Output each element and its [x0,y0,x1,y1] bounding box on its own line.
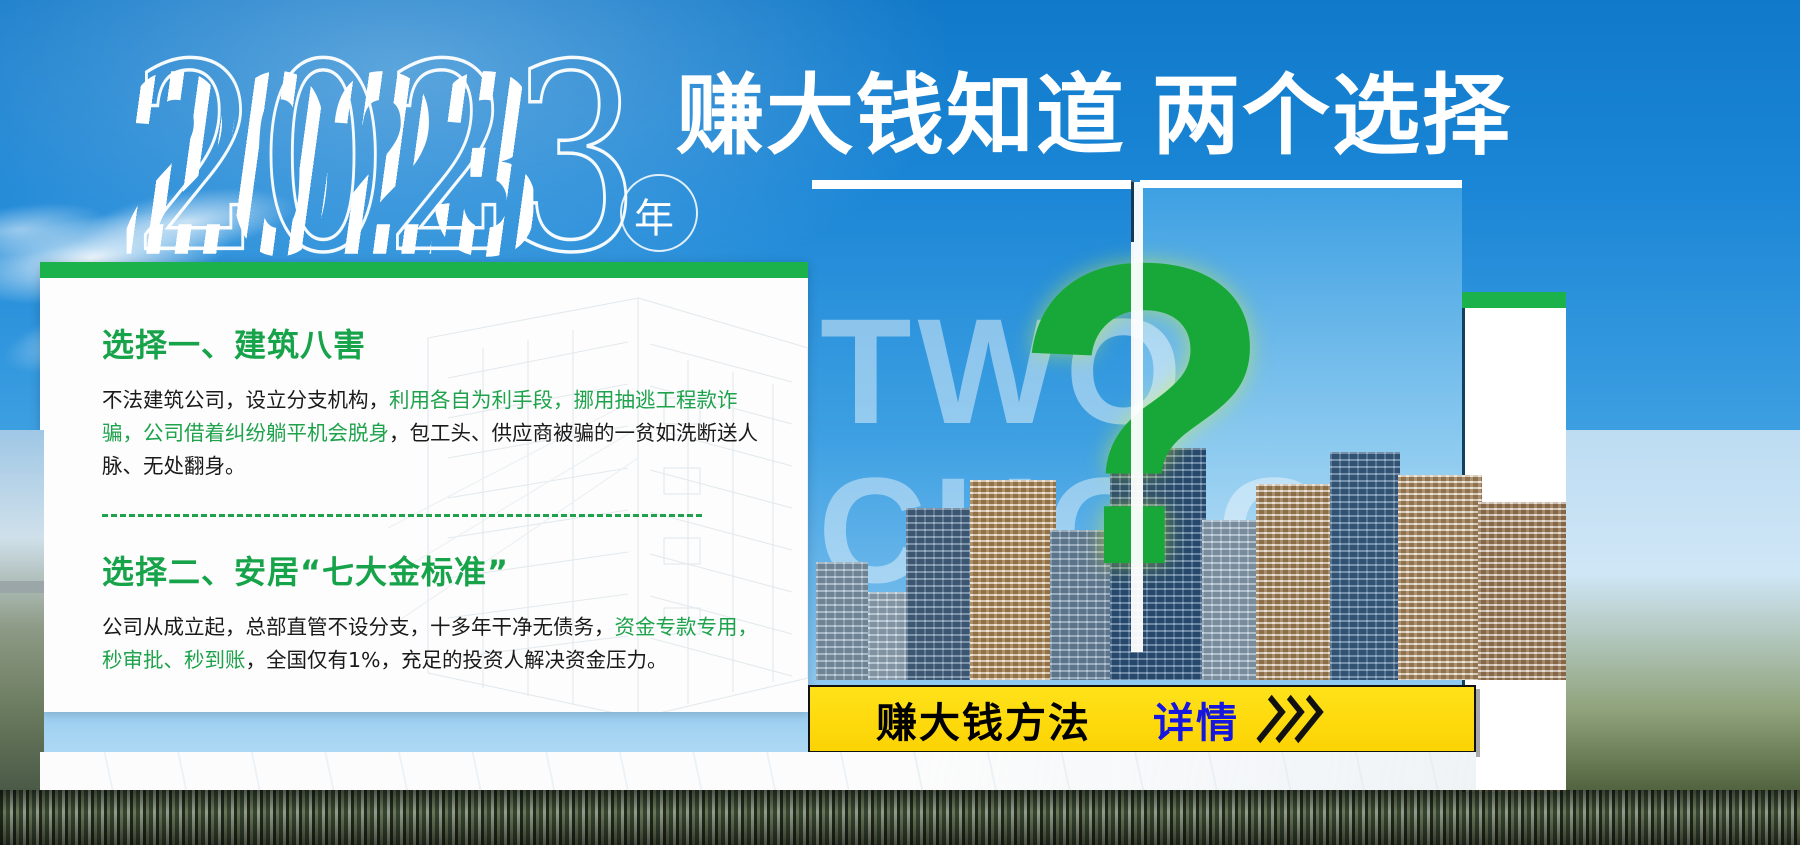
section-2-seg-1: 公司从成立起，总部直管不设分支，十多年干净无债务， [102,615,615,639]
cta-button[interactable]: 赚大钱方法 详情 [808,685,1476,753]
section-1-title: 选择一、建筑八害 [102,320,764,366]
left-photo-slice [0,430,44,790]
section-2-body: 公司从成立起，总部直管不设分支，十多年干净无债务，资金专款专用，秒审批、秒到账，… [102,611,764,677]
building [816,562,868,680]
building [868,592,908,680]
building [906,508,976,680]
question-mark-divider-overlay [1131,182,1143,652]
chevron-right-icon [1259,699,1315,739]
question-mark-divider-cap [1131,182,1134,242]
poster-canvas: 2023 2023 年 赚大钱知道两个选择 TWO CHOICES ? [0,0,1800,845]
building [1330,452,1400,680]
water-reflection-strip [0,790,1800,845]
card-content: 选择一、建筑八害 不法建筑公司，设立分支机构，利用各自为利手段，挪用抽逃工程款诈… [40,278,808,677]
cta-label-method: 赚大钱方法 [876,689,1091,749]
headline-part-2: 两个选择 [1152,64,1512,167]
page-title: 赚大钱知道两个选择 [676,72,1512,160]
cta-label-details: 详情 [1153,689,1239,749]
section-divider-dashed [102,514,702,517]
section-1-seg-1: 不法建筑公司，设立分支机构， [102,388,389,412]
content-card: 选择一、建筑八害 不法建筑公司，设立分支机构，利用各自为利手段，挪用抽逃工程款诈… [40,262,808,712]
section-1-body: 不法建筑公司，设立分支机构，利用各自为利手段，挪用抽逃工程款诈骗，公司借着纠纷躺… [102,384,764,484]
right-white-strip-green-cap [1462,292,1566,308]
building [1398,475,1482,680]
year-suffix-badge: 年 [634,186,674,244]
right-photo-slice [1566,430,1800,790]
section-2-seg-3: ，全国仅有1%，充足的投资人解决资金压力。 [246,648,668,672]
card-bottom-extension [40,752,1476,790]
building [1478,502,1570,680]
question-mark-icon: ? [1012,200,1275,630]
headline-part-1: 赚大钱知道 [676,64,1126,167]
section-2-title: 选择二、安居“七大金标准” [102,547,764,593]
